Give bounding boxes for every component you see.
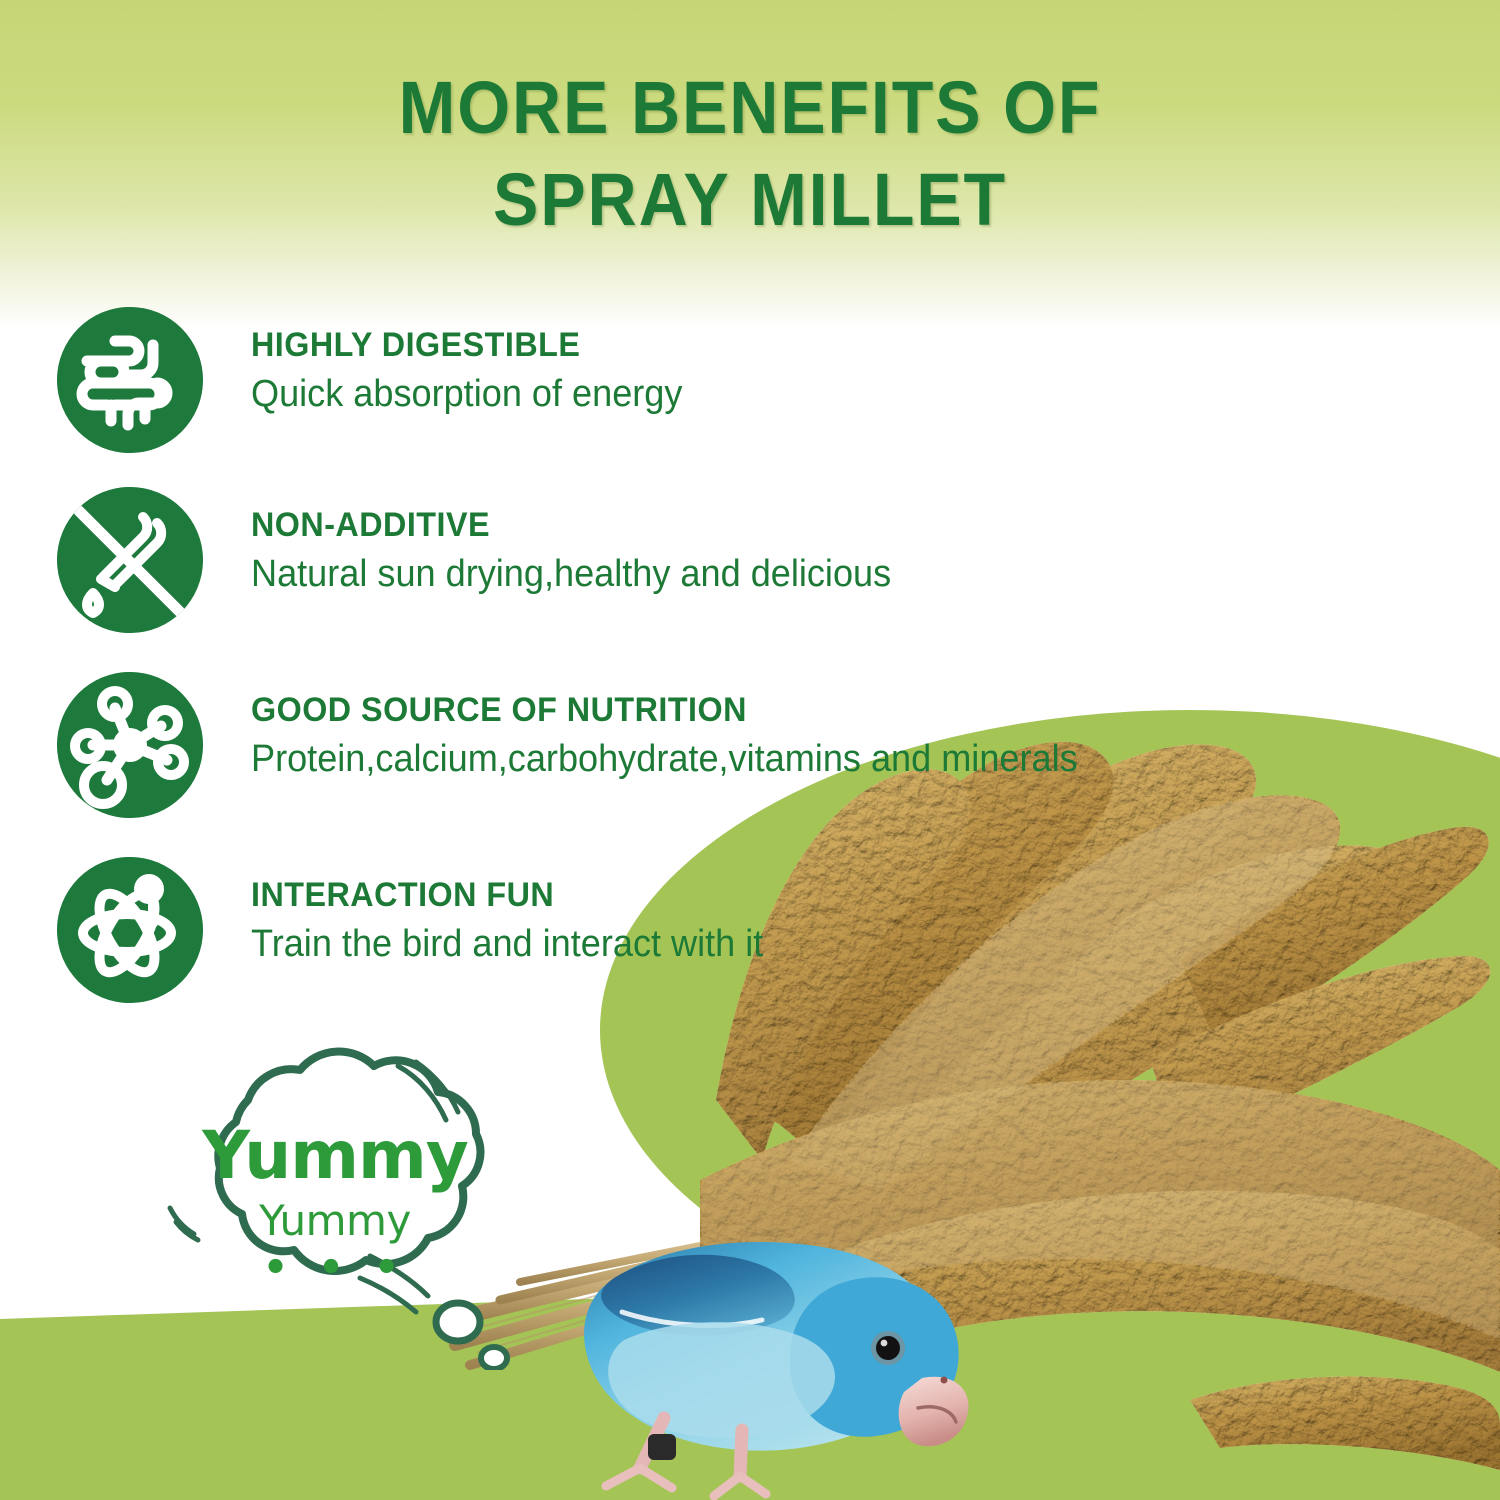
feature-heading: INTERACTION FUN <box>251 875 763 915</box>
yummy-primary-text: Yummy <box>202 1123 468 1189</box>
atom-person-icon <box>57 857 203 1003</box>
infographic-canvas: MORE BENEFITS OF SPRAY MILLET HIGHLY DIG… <box>0 0 1500 1500</box>
feature-row-good-source-of-nutrition: GOOD SOURCE OF NUTRITION Protein,calcium… <box>57 672 1121 818</box>
feature-heading: GOOD SOURCE OF NUTRITION <box>251 690 1078 730</box>
feature-row-interaction-fun: INTERACTION FUN Train the bird and inter… <box>57 857 790 1003</box>
feature-heading: HIGHLY DIGESTIBLE <box>251 325 682 365</box>
feature-subtext: Train the bird and interact with it <box>251 921 763 967</box>
feature-row-non-additive: NON-ADDITIVE Natural sun drying,healthy … <box>57 487 925 633</box>
molecule-icon <box>57 672 203 818</box>
feature-subtext: Protein,calcium,carbohydrate,vitamins an… <box>251 736 1078 782</box>
feature-subtext: Natural sun drying,healthy and delicious <box>251 551 891 597</box>
header-gradient-background <box>0 0 1500 330</box>
feature-heading: NON-ADDITIVE <box>251 505 891 545</box>
no-dropper-icon <box>57 487 203 633</box>
intestine-icon <box>57 307 203 453</box>
yummy-secondary-text: Yummy <box>259 1199 411 1243</box>
yummy-ellipsis: • • • <box>263 1257 408 1279</box>
thought-bubble-content: Yummy Yummy • • • <box>150 1052 520 1342</box>
feature-row-highly-digestible: HIGHLY DIGESTIBLE Quick absorption of en… <box>57 307 705 453</box>
feature-subtext: Quick absorption of energy <box>251 371 682 417</box>
